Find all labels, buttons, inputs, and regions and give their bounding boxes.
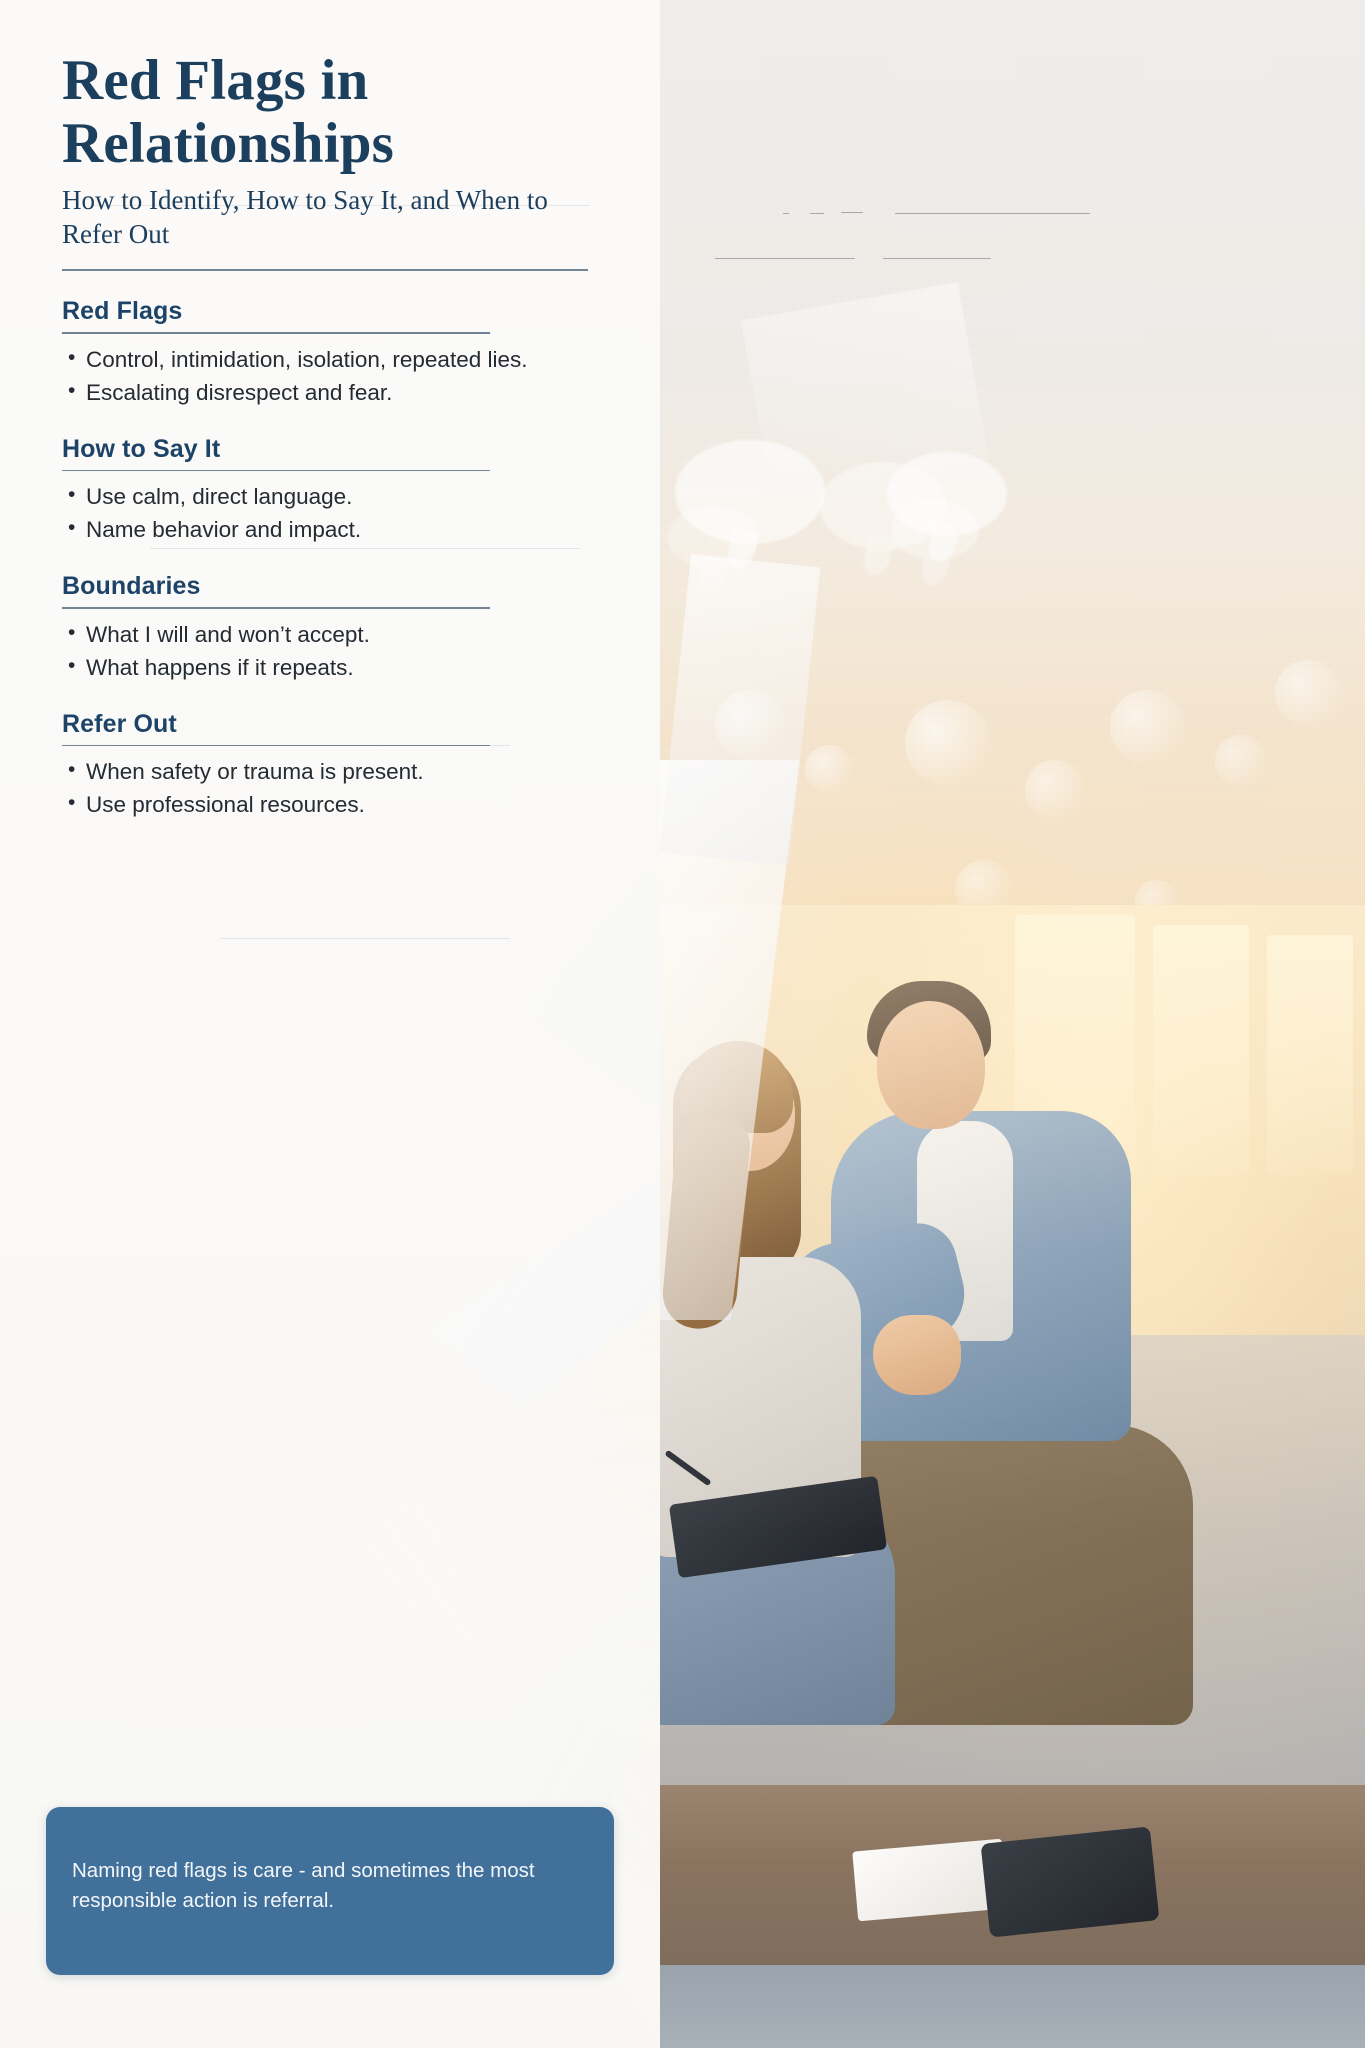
header-divider (62, 269, 588, 271)
page-title: Red Flags in Relationships (62, 50, 592, 175)
decorative-line (883, 258, 991, 259)
section-boundaries: Boundaries What I will and won’t accept.… (62, 572, 592, 683)
list-item: Control, intimidation, isolation, repeat… (62, 344, 592, 376)
section-bullet-list: Control, intimidation, isolation, repeat… (62, 344, 592, 409)
callout-text: Naming red flags is care - and sometimes… (72, 1856, 586, 1915)
list-item: Use professional resources. (62, 789, 592, 821)
bokeh-light (1215, 735, 1267, 787)
content-column: Red Flags in Relationships How to Identi… (0, 0, 660, 2048)
bokeh-light (1025, 760, 1085, 820)
page-subtitle: How to Identify, How to Say It, and When… (62, 183, 592, 251)
list-item: Name behavior and impact. (62, 514, 592, 546)
decorative-line (715, 258, 855, 259)
section-divider (62, 332, 490, 334)
list-item: Escalating disrespect and fear. (62, 377, 592, 409)
section-heading: Refer Out (62, 710, 592, 739)
photo-haze (655, 905, 1365, 2048)
section-bullet-list: What I will and won’t accept. What happe… (62, 619, 592, 684)
decorative-line (895, 213, 1090, 214)
section-heading: Red Flags (62, 297, 592, 326)
section-bullet-list: Use calm, direct language. Name behavior… (62, 481, 592, 546)
section-heading: How to Say It (62, 435, 592, 464)
section-bullet-list: When safety or trauma is present. Use pr… (62, 756, 592, 821)
list-item: Use calm, direct language. (62, 481, 592, 513)
poster-page: Red Flags in Relationships How to Identi… (0, 0, 1365, 2048)
decorative-line (783, 213, 789, 214)
callout-box: Naming red flags is care - and sometimes… (46, 1807, 614, 1975)
bokeh-light (1110, 690, 1184, 764)
bokeh-light (905, 700, 991, 786)
couple-photograph (655, 905, 1365, 2048)
text-block: Red Flags in Relationships How to Identi… (62, 50, 592, 822)
decorative-line (810, 213, 824, 214)
section-divider (62, 607, 490, 609)
section-divider (62, 470, 490, 472)
list-item: What happens if it repeats. (62, 652, 592, 684)
abstract-shape (741, 282, 989, 497)
list-item: When safety or trauma is present. (62, 756, 592, 788)
bokeh-light (1275, 660, 1341, 726)
section-refer-out: Refer Out When safety or trauma is prese… (62, 710, 592, 821)
hero-image-panel (655, 0, 1365, 2048)
decorative-line (841, 212, 863, 213)
section-how-to-say-it: How to Say It Use calm, direct language.… (62, 435, 592, 546)
list-item: What I will and won’t accept. (62, 619, 592, 651)
section-red-flags: Red Flags Control, intimidation, isolati… (62, 297, 592, 408)
bokeh-light (805, 745, 853, 793)
decorative-line (220, 938, 510, 939)
section-heading: Boundaries (62, 572, 592, 601)
speech-bubble-icon (891, 500, 979, 560)
section-divider (62, 745, 490, 747)
